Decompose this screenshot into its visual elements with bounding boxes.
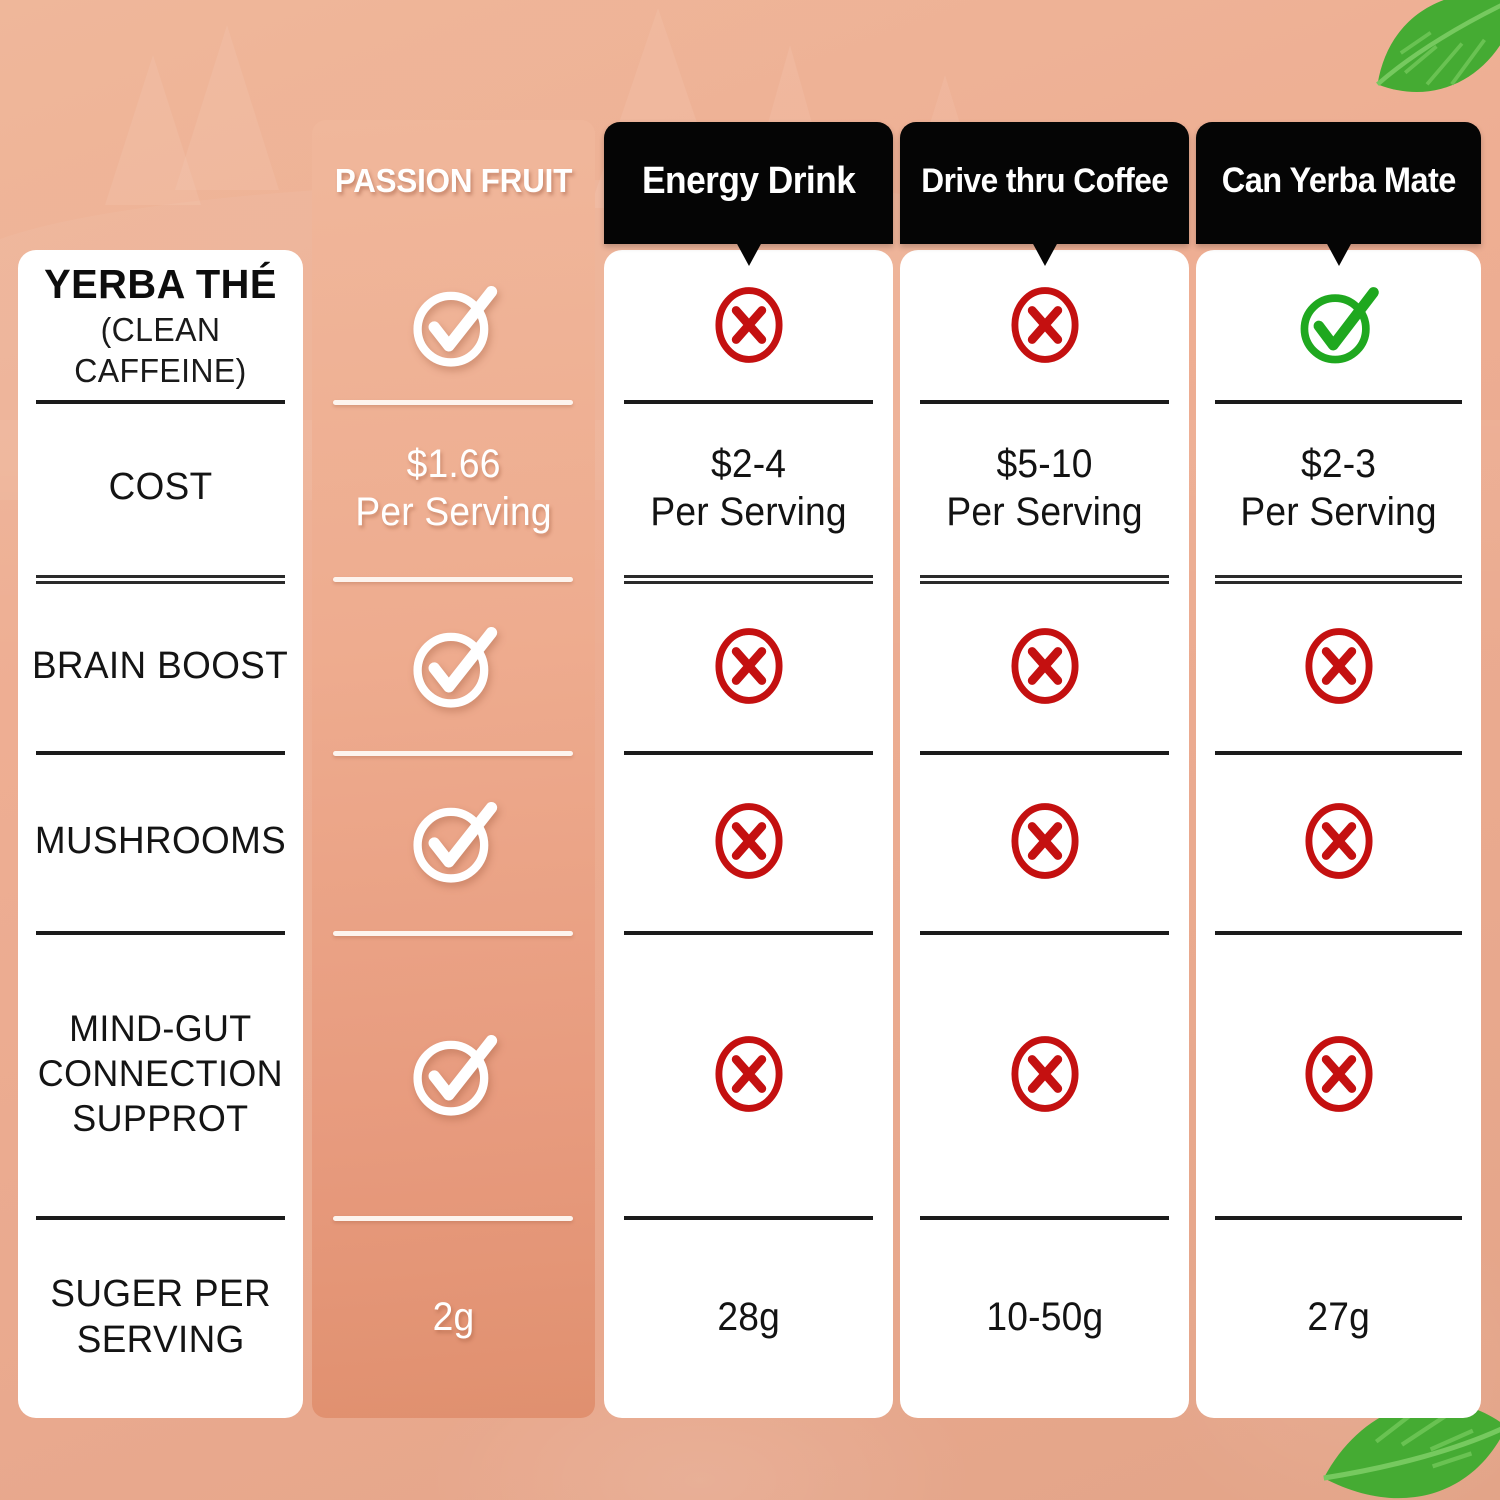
- cost-amount: $1.66: [355, 440, 551, 488]
- cell-canmate-mind-gut: [1196, 931, 1481, 1216]
- row-label-line: CONNECTION: [38, 1053, 283, 1094]
- table-row: SUGER PER SERVING 2g 28g 10-50g 27g: [0, 1216, 1500, 1418]
- cross-circle-icon: [1296, 621, 1382, 711]
- row-label-brain-boost: BRAIN BOOST: [18, 581, 303, 751]
- cross-circle-icon: [1296, 1029, 1382, 1119]
- cell-energy-cost: $2-4 Per Serving: [604, 400, 893, 575]
- cross-circle-icon: [706, 280, 792, 370]
- row-label-suger-per-serving: SUGER PER SERVING: [18, 1216, 303, 1418]
- cross-circle-icon: [1002, 1029, 1088, 1119]
- cell-canmate-brain-boost: [1196, 581, 1481, 751]
- cell-coffee-mushrooms: [900, 751, 1189, 931]
- row-label-line: SUPPROT: [72, 1098, 248, 1139]
- cell-energy-denied: [604, 250, 893, 400]
- sugar-value: 10-50g: [986, 1293, 1103, 1341]
- column-header-drive-thru-coffee-label: Drive thru Coffee: [921, 162, 1168, 205]
- cell-energy-brain-boost: [604, 581, 893, 751]
- check-circle-icon: [402, 273, 506, 377]
- row-label-yerba-the: YERBA THÉ (CLEAN CAFFEINE): [18, 250, 303, 400]
- cell-coffee-denied: [900, 250, 1189, 400]
- cross-circle-icon: [706, 621, 792, 711]
- column-header-can-yerba-mate[interactable]: Can Yerba Mate: [1196, 122, 1481, 244]
- cost-unit: Per Serving: [650, 488, 846, 536]
- column-header-passion-fruit: PASSION FRUIT: [319, 162, 588, 200]
- column-header-can-yerba-mate-label: Can Yerba Mate: [1221, 161, 1455, 205]
- cell-coffee-cost: $5-10 Per Serving: [900, 400, 1189, 575]
- cell-canmate-approved: [1196, 250, 1481, 400]
- cell-coffee-sugar: 10-50g: [900, 1216, 1189, 1418]
- column-header-energy-drink[interactable]: Energy Drink: [604, 122, 893, 244]
- cost-amount: $2-3: [1240, 440, 1436, 488]
- cost-amount: $5-10: [946, 440, 1142, 488]
- row-label-line: MIND-GUT: [69, 1008, 252, 1049]
- row-label-cost: COST: [18, 400, 303, 575]
- cross-circle-icon: [1002, 280, 1088, 370]
- row-label-mind-gut-connection: MIND-GUT CONNECTION SUPPROT: [18, 931, 303, 1216]
- cell-hero-sugar: 2g: [312, 1216, 595, 1418]
- cell-hero-mind-gut: [312, 931, 595, 1216]
- table-row: BRAIN BOOST: [0, 581, 1500, 751]
- page-subtitle: (CLEAN CAFFEINE): [30, 310, 291, 391]
- table-row: YERBA THÉ (CLEAN CAFFEINE): [0, 250, 1500, 400]
- cell-coffee-mind-gut: [900, 931, 1189, 1216]
- cell-coffee-brain-boost: [900, 581, 1189, 751]
- row-label-line: SUGER PER: [50, 1273, 271, 1315]
- cell-canmate-mushrooms: [1196, 751, 1481, 931]
- cost-unit: Per Serving: [1240, 488, 1436, 536]
- table-row: MUSHROOMS: [0, 751, 1500, 931]
- table-row: MIND-GUT CONNECTION SUPPROT: [0, 931, 1500, 1216]
- row-label-line: SERVING: [77, 1319, 245, 1361]
- table-row: COST $1.66 Per Serving $2-4 Per Serving …: [0, 400, 1500, 575]
- cost-unit: Per Serving: [946, 488, 1142, 536]
- cell-energy-sugar: 28g: [604, 1216, 893, 1418]
- column-header-drive-thru-coffee[interactable]: Drive thru Coffee: [900, 122, 1189, 244]
- cell-canmate-cost: $2-3 Per Serving: [1196, 400, 1481, 575]
- cell-hero-approved: [312, 250, 595, 400]
- cell-hero-mushrooms: [312, 751, 595, 931]
- cost-unit: Per Serving: [355, 488, 551, 536]
- cross-circle-icon: [1002, 796, 1088, 886]
- check-circle-icon: [402, 789, 506, 893]
- check-circle-icon: [402, 614, 506, 718]
- sugar-value: 27g: [1307, 1293, 1370, 1341]
- cost-amount: $2-4: [650, 440, 846, 488]
- sugar-value: 2g: [433, 1293, 475, 1341]
- cell-hero-cost: $1.66 Per Serving: [312, 400, 595, 575]
- cell-energy-mushrooms: [604, 751, 893, 931]
- row-label-mushrooms: MUSHROOMS: [18, 751, 303, 931]
- table-rows: YERBA THÉ (CLEAN CAFFEINE): [0, 250, 1500, 1418]
- comparison-table: PASSION FRUIT Energy Drink Drive thru Co…: [0, 0, 1500, 1500]
- cell-energy-mind-gut: [604, 931, 893, 1216]
- check-circle-icon: [402, 1022, 506, 1126]
- cell-hero-brain-boost: [312, 581, 595, 751]
- cross-circle-icon: [1002, 621, 1088, 711]
- cross-circle-icon: [1296, 796, 1382, 886]
- check-circle-icon: [1291, 277, 1387, 373]
- sugar-value: 28g: [717, 1293, 780, 1341]
- cross-circle-icon: [706, 796, 792, 886]
- page-title: YERBA THÉ: [30, 259, 291, 309]
- column-header-energy-drink-label: Energy Drink: [642, 160, 855, 207]
- cell-canmate-sugar: 27g: [1196, 1216, 1481, 1418]
- cross-circle-icon: [706, 1029, 792, 1119]
